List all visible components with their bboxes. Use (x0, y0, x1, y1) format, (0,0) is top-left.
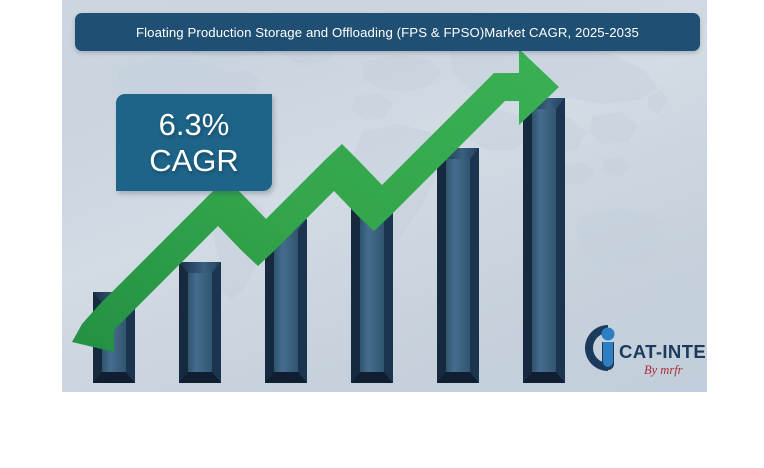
bar-5 (437, 148, 479, 383)
cagr-label: CAGR (149, 143, 239, 179)
cagr-value: 6.3% (159, 107, 230, 143)
logo-graphic: CAT-INTEL By mrfr (578, 318, 707, 380)
cagr-callout: 6.3% CAGR (116, 94, 272, 191)
chart-title-bar: Floating Production Storage and Offloadi… (75, 13, 700, 51)
logo-name: CAT-INTEL (619, 341, 707, 362)
bar-2 (179, 262, 221, 383)
chart-panel: CAT-INTEL By mrfr (62, 0, 707, 392)
bar-6 (523, 98, 565, 383)
page-title: Floating Production Storage and Offloadi… (136, 25, 639, 40)
c-person-icon (585, 325, 615, 371)
infographic-canvas: CAT-INTEL By mrfr Floating Production St… (0, 0, 764, 468)
cat-intel-logo: CAT-INTEL By mrfr (578, 318, 707, 380)
logo-byline: By mrfr (644, 363, 683, 377)
